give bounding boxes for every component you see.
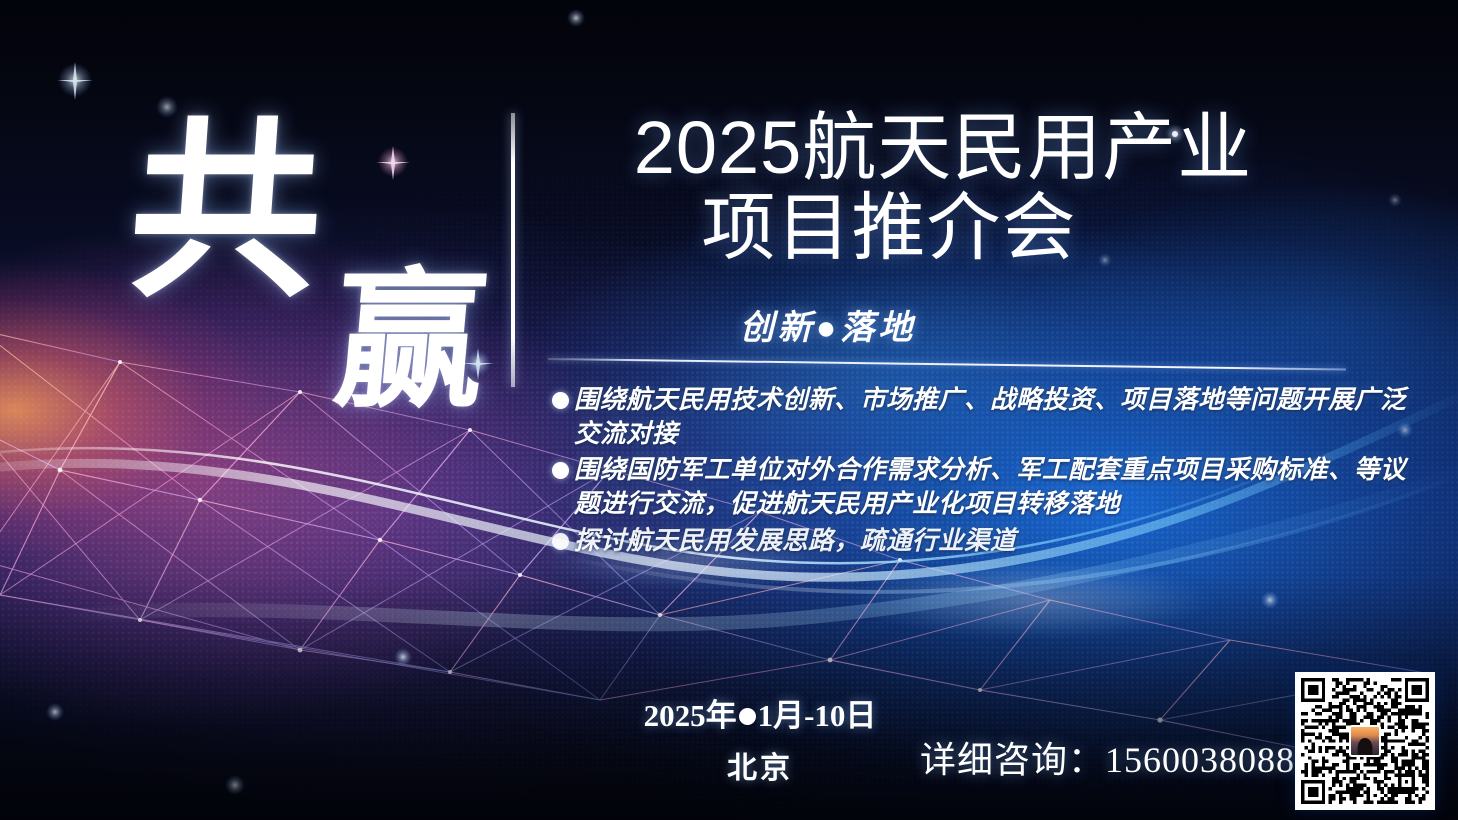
bullet-text: 围绕国防军工单位对外合作需求分析、军工配套重点项目采购标准、等议题进行交流，促进… xyxy=(574,453,1408,520)
bullet-item: 围绕航天民用技术创新、市场推广、战略投资、项目落地等问题开展广泛交流对接 xyxy=(552,383,1408,450)
bullet-text: 围绕航天民用技术创新、市场推广、战略投资、项目落地等问题开展广泛交流对接 xyxy=(574,383,1408,450)
date-suffix: 1月-10日 xyxy=(758,698,877,733)
bullet-dot-icon xyxy=(552,533,569,550)
date-prefix: 2025年 xyxy=(644,698,737,733)
date-dot-icon xyxy=(739,708,756,725)
qr-center-avatar xyxy=(1349,725,1381,757)
poster-canvas: 共 赢 2025航天民用产业 项目推介会 创新●落地 围绕航天民用技术创新、市场… xyxy=(0,0,1458,820)
title-line-1: 2025航天民用产业 xyxy=(538,108,1348,188)
bullet-item: 围绕国防军工单位对外合作需求分析、军工配套重点项目采购标准、等议题进行交流，促进… xyxy=(552,453,1408,520)
bullet-dot-icon xyxy=(552,462,569,479)
qr-code[interactable] xyxy=(1295,672,1435,810)
contact-label: 详细咨询： xyxy=(920,740,1105,780)
bullet-dot-icon xyxy=(552,392,569,409)
event-date-block: 2025年1月-10日 北京 xyxy=(620,690,900,787)
calligraphy-char-gong: 共 xyxy=(123,118,324,310)
contact-phone: 15600380889 xyxy=(1105,740,1314,780)
bullet-text: 探讨航天民用发展思路，疏通行业渠道 xyxy=(574,524,1408,558)
bullet-item: 探讨航天民用发展思路，疏通行业渠道 xyxy=(552,524,1408,558)
title-block: 2025航天民用产业 项目推介会 xyxy=(548,108,1348,268)
title-line-2: 项目推介会 xyxy=(430,188,1348,268)
contact-line: 详细咨询：15600380889 xyxy=(920,731,1314,783)
bullet-list: 围绕航天民用技术创新、市场推广、战略投资、项目落地等问题开展广泛交流对接 围绕国… xyxy=(552,383,1408,560)
tagline: 创新●落地 xyxy=(428,300,1228,349)
event-date: 2025年1月-10日 xyxy=(620,690,900,735)
event-city: 北京 xyxy=(620,743,900,787)
